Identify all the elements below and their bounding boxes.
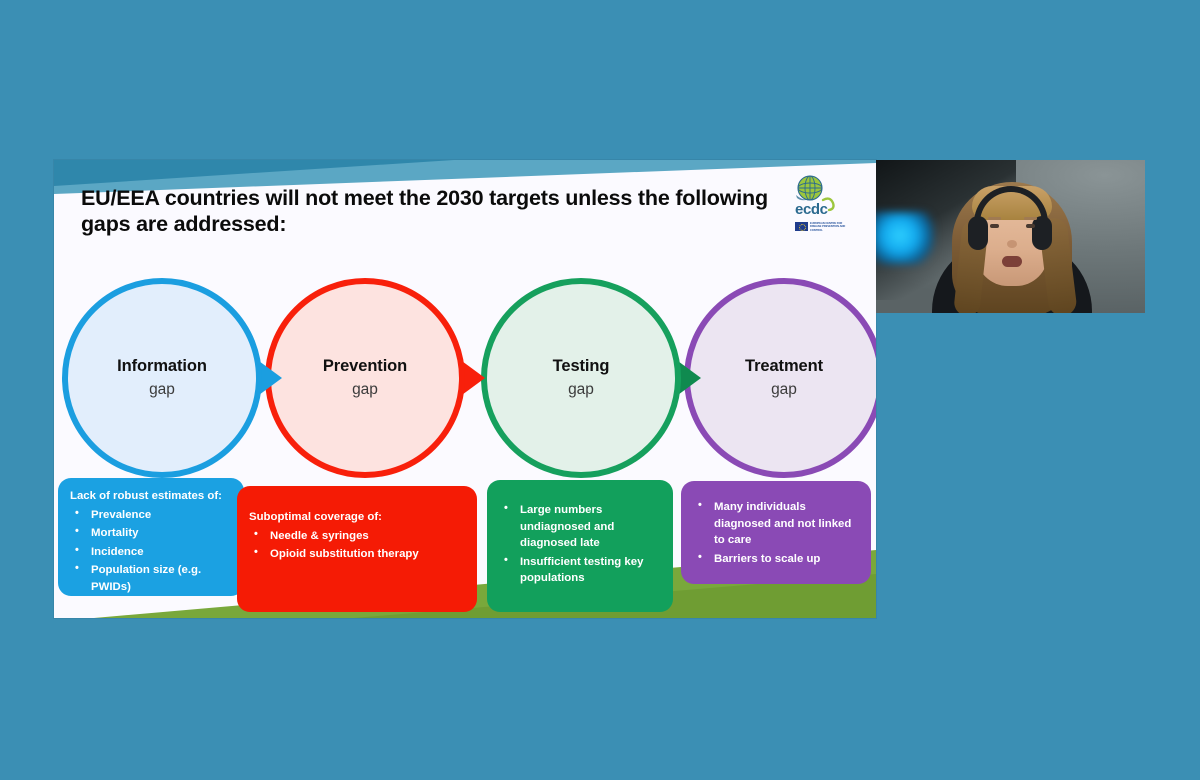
gap-node-treatment[interactable]: Treatment gap [684,278,876,478]
gap-box-list: Prevalence Mortality Incidence Populatio… [70,507,233,596]
node-subtitle: gap [352,381,378,399]
presenter-eye-right [1026,224,1035,228]
gap-detail-boxes: Lack of robust estimates of: Prevalence … [54,478,876,613]
presenter-nose [1007,240,1017,248]
presentation-slide: EU/EEA countries will not meet the 2030 … [54,160,876,618]
gap-box-lead: Suboptimal coverage of: [249,509,466,526]
list-item: Many individuals diagnosed and not linke… [693,499,860,549]
gap-node-information[interactable]: Information gap [62,278,262,478]
ecdc-logo: ecdc European Centre for Disease Prevent… [787,174,855,232]
node-subtitle: gap [568,381,594,399]
list-item: Needle & syringes [249,528,466,545]
list-item: Insufficient testing key populations [499,554,662,587]
node-title: Information [117,357,207,376]
list-item: Mortality [70,525,233,542]
presenter-brow-left [988,217,1001,220]
video-window-light [876,212,934,264]
list-item: Large numbers undiagnosed and diagnosed … [499,502,662,552]
list-item: Incidence [70,544,233,561]
node-title: Treatment [745,357,823,376]
gap-box-treatment[interactable]: Many individuals diagnosed and not linke… [681,481,871,584]
gap-box-testing[interactable]: Large numbers undiagnosed and diagnosed … [487,480,673,612]
list-item: Prevalence [70,507,233,524]
presenter-brow-right [1024,217,1037,220]
node-title: Prevention [323,357,407,376]
svg-text:ecdc: ecdc [795,201,828,218]
headphone-cup-right-icon [1032,216,1052,250]
gap-chain: Information gap Prevention gap Testing g… [54,278,876,478]
list-item: Population size (e.g. PWIDs) [70,562,233,595]
ecdc-eu-caption: European Centre for Disease Prevention a… [795,222,848,233]
gap-box-information[interactable]: Lack of robust estimates of: Prevalence … [58,478,244,596]
presenter-eye-left [990,224,999,228]
node-title: Testing [553,357,610,376]
eu-flag-icon [795,222,808,231]
list-item: Opioid substitution therapy [249,546,466,563]
screen-share-stage: EU/EEA countries will not meet the 2030 … [0,0,1200,780]
list-item: Barriers to scale up [693,551,860,568]
gap-box-list: Many individuals diagnosed and not linke… [693,499,860,567]
gap-box-list: Needle & syringes Opioid substitution th… [249,528,466,563]
ecdc-globe-icon: ecdc [787,174,855,218]
node-subtitle: gap [149,381,175,399]
headphone-cup-left-icon [968,216,988,250]
gap-box-prevention[interactable]: Suboptimal coverage of: Needle & syringe… [237,486,477,612]
presenter-video-tile[interactable] [876,160,1145,313]
gap-box-list: Large numbers undiagnosed and diagnosed … [499,502,662,587]
gap-node-prevention[interactable]: Prevention gap [265,278,465,478]
gap-node-testing[interactable]: Testing gap [481,278,681,478]
slide-title: EU/EEA countries will not meet the 2030 … [81,186,771,238]
presenter-mouth [1002,256,1022,267]
node-subtitle: gap [771,381,797,399]
gap-box-lead: Lack of robust estimates of: [70,488,233,505]
